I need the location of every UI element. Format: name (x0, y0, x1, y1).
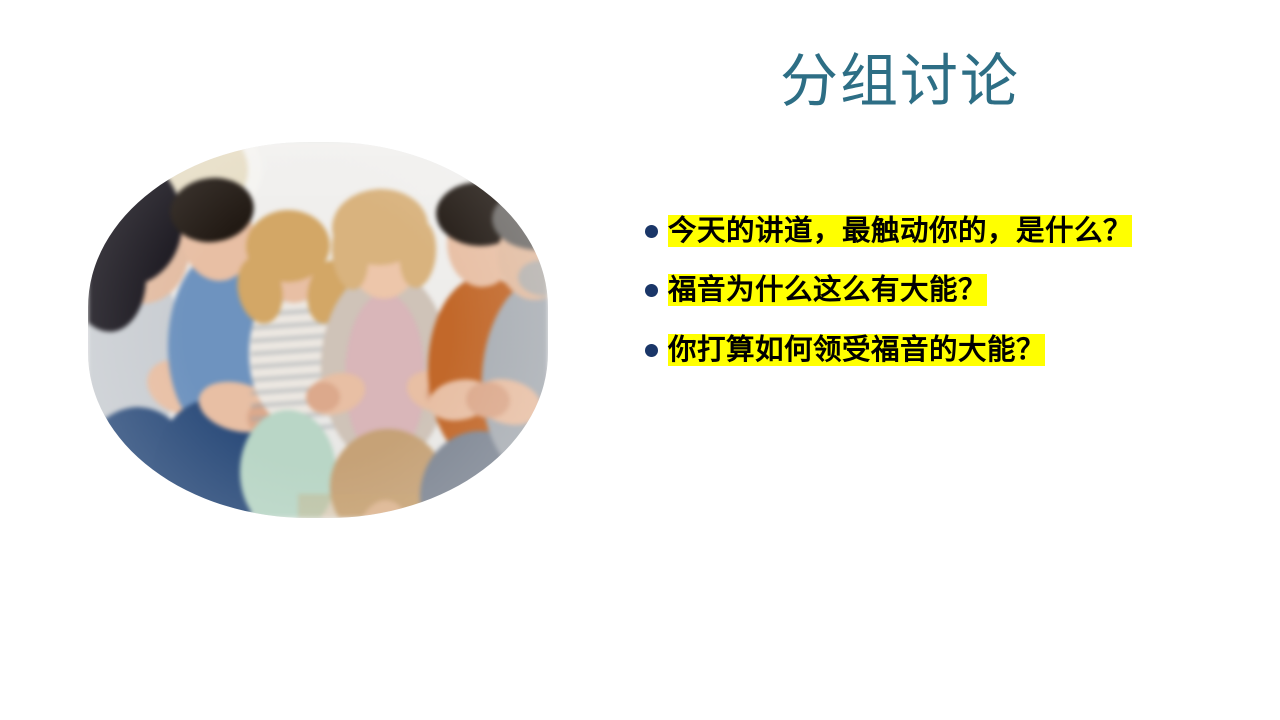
page-title: 分组讨论 (620, 48, 1180, 116)
slide-canvas: 分组讨论 今天的讲道，最触动你的，是什么？ 福音为什么这么有大能？ 你打算如何领… (0, 0, 1280, 720)
highlighted-text: 今天的讲道，最触动你的，是什么？ (668, 215, 1132, 247)
bullet-dot-icon (645, 344, 658, 357)
bullet-dot-icon (645, 225, 658, 238)
photo-image (88, 142, 548, 518)
highlighted-text: 福音为什么这么有大能？ (668, 274, 987, 306)
bullet-dot-icon (645, 284, 658, 297)
list-item[interactable]: 福音为什么这么有大能？ (645, 271, 1185, 310)
bullet-text: 你打算如何领受福音的大能？ (668, 331, 1185, 370)
bullet-text: 福音为什么这么有大能？ (668, 271, 1185, 310)
list-item[interactable]: 今天的讲道，最触动你的，是什么？ (645, 212, 1185, 251)
discussion-question-list: 今天的讲道，最触动你的，是什么？ 福音为什么这么有大能？ 你打算如何领受福音的大… (645, 212, 1185, 370)
bullet-text: 今天的讲道，最触动你的，是什么？ (668, 212, 1185, 251)
highlighted-text: 你打算如何领受福音的大能？ (668, 334, 1045, 366)
list-item[interactable]: 你打算如何领受福音的大能？ (645, 331, 1185, 370)
group-discussion-photo (88, 142, 548, 518)
